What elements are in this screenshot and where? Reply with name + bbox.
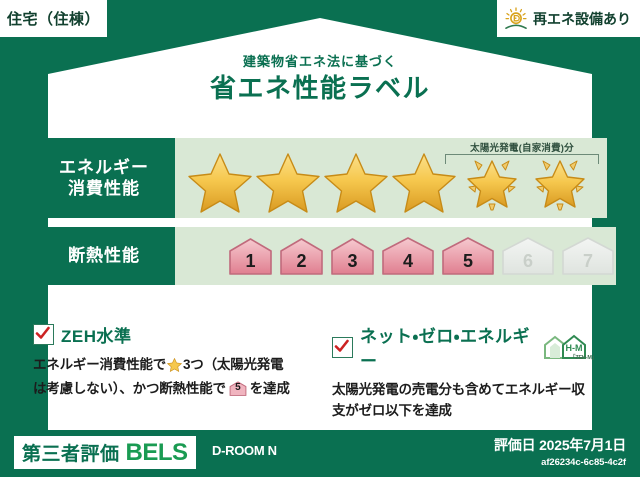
energy-performance-value: 太陽光発電(自家消費)分 — [175, 138, 607, 218]
check-icon — [33, 324, 54, 345]
net-zero-statement: ネット・ゼロ・エネルギー H-M 「ZEH-M」 太陽光発電の売電分も含めてエネ… — [320, 322, 607, 422]
evaluation-uid: af26234c-6c85-4c2f — [494, 457, 626, 468]
insulation-grade-value: 3 — [329, 251, 376, 272]
star-icon — [255, 149, 321, 213]
net-zero-statement-body: 太陽光発電の売電分も含めてエネルギー収支がゼロ以下を達成 — [332, 380, 597, 422]
bels-jp-label: 第三者評価 — [22, 439, 120, 466]
zeh-body-star-count: 3つ（太陽光発電 — [183, 357, 283, 372]
insulation-grade-badge: 4 — [380, 234, 436, 278]
evaluation-date: 評価日 2025年7月1日 — [494, 435, 626, 455]
energy-performance-key: エネルギー 消費性能 — [33, 138, 175, 218]
insulation-grade-badge: 5 — [440, 234, 496, 278]
solar-sun-icon — [503, 7, 529, 31]
solar-portion-note: 太陽光発電(自家消費)分 — [443, 140, 601, 154]
label-heading: 建築物省エネ法に基づく 省エネ性能ラベル — [0, 55, 640, 103]
insulation-grade-value: 6 — [500, 251, 556, 272]
label-footer: 第三者評価 BELS D-ROOM N 評価日 2025年7月1日 af2623… — [0, 430, 640, 477]
zeh-m-logo-icon: H-M 「ZEH-M」 — [541, 334, 597, 360]
insulation-grade-badge: 7 — [560, 234, 616, 278]
net-zero-statement-title: ネット・ゼロ・エネルギー — [360, 322, 533, 372]
star-icon — [323, 149, 389, 213]
heading-subtitle: 建築物省エネ法に基づく — [0, 55, 640, 69]
renewable-equipment-chip: 再エネ設備あり — [497, 0, 640, 37]
evaluation-date-label: 評価日 — [494, 437, 535, 453]
check-icon — [332, 337, 353, 358]
insulation-performance-value: 1 2 3 — [175, 227, 616, 285]
insulation-grade-value: 7 — [560, 251, 616, 272]
insulation-grade-value: 1 — [227, 251, 274, 272]
evaluation-info: 評価日 2025年7月1日 af26234c-6c85-4c2f — [494, 435, 626, 468]
category-chip-label: 住宅（住棟） — [7, 8, 100, 29]
zeh-statement: ZEH水準 エネルギー消費性能で3つ（太陽光発電は考慮しない）、かつ断熱性能で5… — [33, 322, 320, 422]
insulation-grade-badge: 6 — [500, 234, 556, 278]
insulation-grade-scale: 1 2 3 — [175, 234, 616, 278]
category-chip: 住宅（住棟） — [0, 0, 107, 37]
zeh-body-part3: を達成 — [250, 381, 290, 396]
insulation-grade-badge: 5 — [228, 380, 248, 397]
zeh-statement-header: ZEH水準 — [33, 322, 310, 347]
energy-key-line1: エネルギー — [59, 157, 149, 178]
insulation-grade-badge: 1 — [227, 234, 274, 278]
insulation-performance-row: 断熱性能 1 — [33, 227, 607, 285]
net-zero-statement-header: ネット・ゼロ・エネルギー H-M 「ZEH-M」 — [332, 322, 597, 372]
insulation-grade-value: 5 — [440, 251, 496, 272]
insulation-grade-value: 2 — [278, 251, 325, 272]
svg-text:H-M: H-M — [566, 343, 583, 353]
renewable-chip-label: 再エネ設備あり — [533, 9, 631, 29]
statements: ZEH水準 エネルギー消費性能で3つ（太陽光発電は考慮しない）、かつ断熱性能で5… — [33, 322, 607, 422]
evaluation-date-value: 2025年7月1日 — [539, 437, 626, 453]
unit-name: D-ROOM N — [212, 443, 277, 458]
zeh-body-badge-value: 5 — [228, 380, 248, 396]
zeh-statement-body: エネルギー消費性能で3つ（太陽光発電は考慮しない）、かつ断熱性能で5を達成 — [33, 355, 310, 400]
star-icon — [167, 357, 182, 379]
insulation-key-line1: 断熱性能 — [68, 245, 140, 266]
zeh-body-part2: は考慮しない）、かつ断熱性能で — [33, 381, 226, 396]
insulation-grade-badge: 2 — [278, 234, 325, 278]
bels-certification-badge: 第三者評価 BELS — [14, 436, 196, 469]
star-icon — [187, 149, 253, 213]
insulation-grade-value: 4 — [380, 251, 436, 272]
solar-portion-bracket — [445, 154, 599, 164]
zeh-statement-title: ZEH水準 — [61, 322, 132, 347]
metric-rows: エネルギー 消費性能 — [33, 138, 607, 285]
insulation-grade-badge: 3 — [329, 234, 376, 278]
energy-key-line2: 消費性能 — [68, 178, 140, 199]
energy-performance-label: 住宅（住棟） 再エネ設備あり 建築物省エネ法に基づく — [0, 0, 640, 477]
zeh-body-part1: エネルギー消費性能で — [33, 357, 166, 372]
heading-title: 省エネ性能ラベル — [0, 74, 640, 103]
insulation-performance-key: 断熱性能 — [33, 227, 175, 285]
bels-en-label: BELS — [126, 439, 188, 467]
zeh-m-logo-caption: 「ZEH-M」 — [570, 353, 597, 361]
energy-performance-row: エネルギー 消費性能 — [33, 138, 607, 218]
